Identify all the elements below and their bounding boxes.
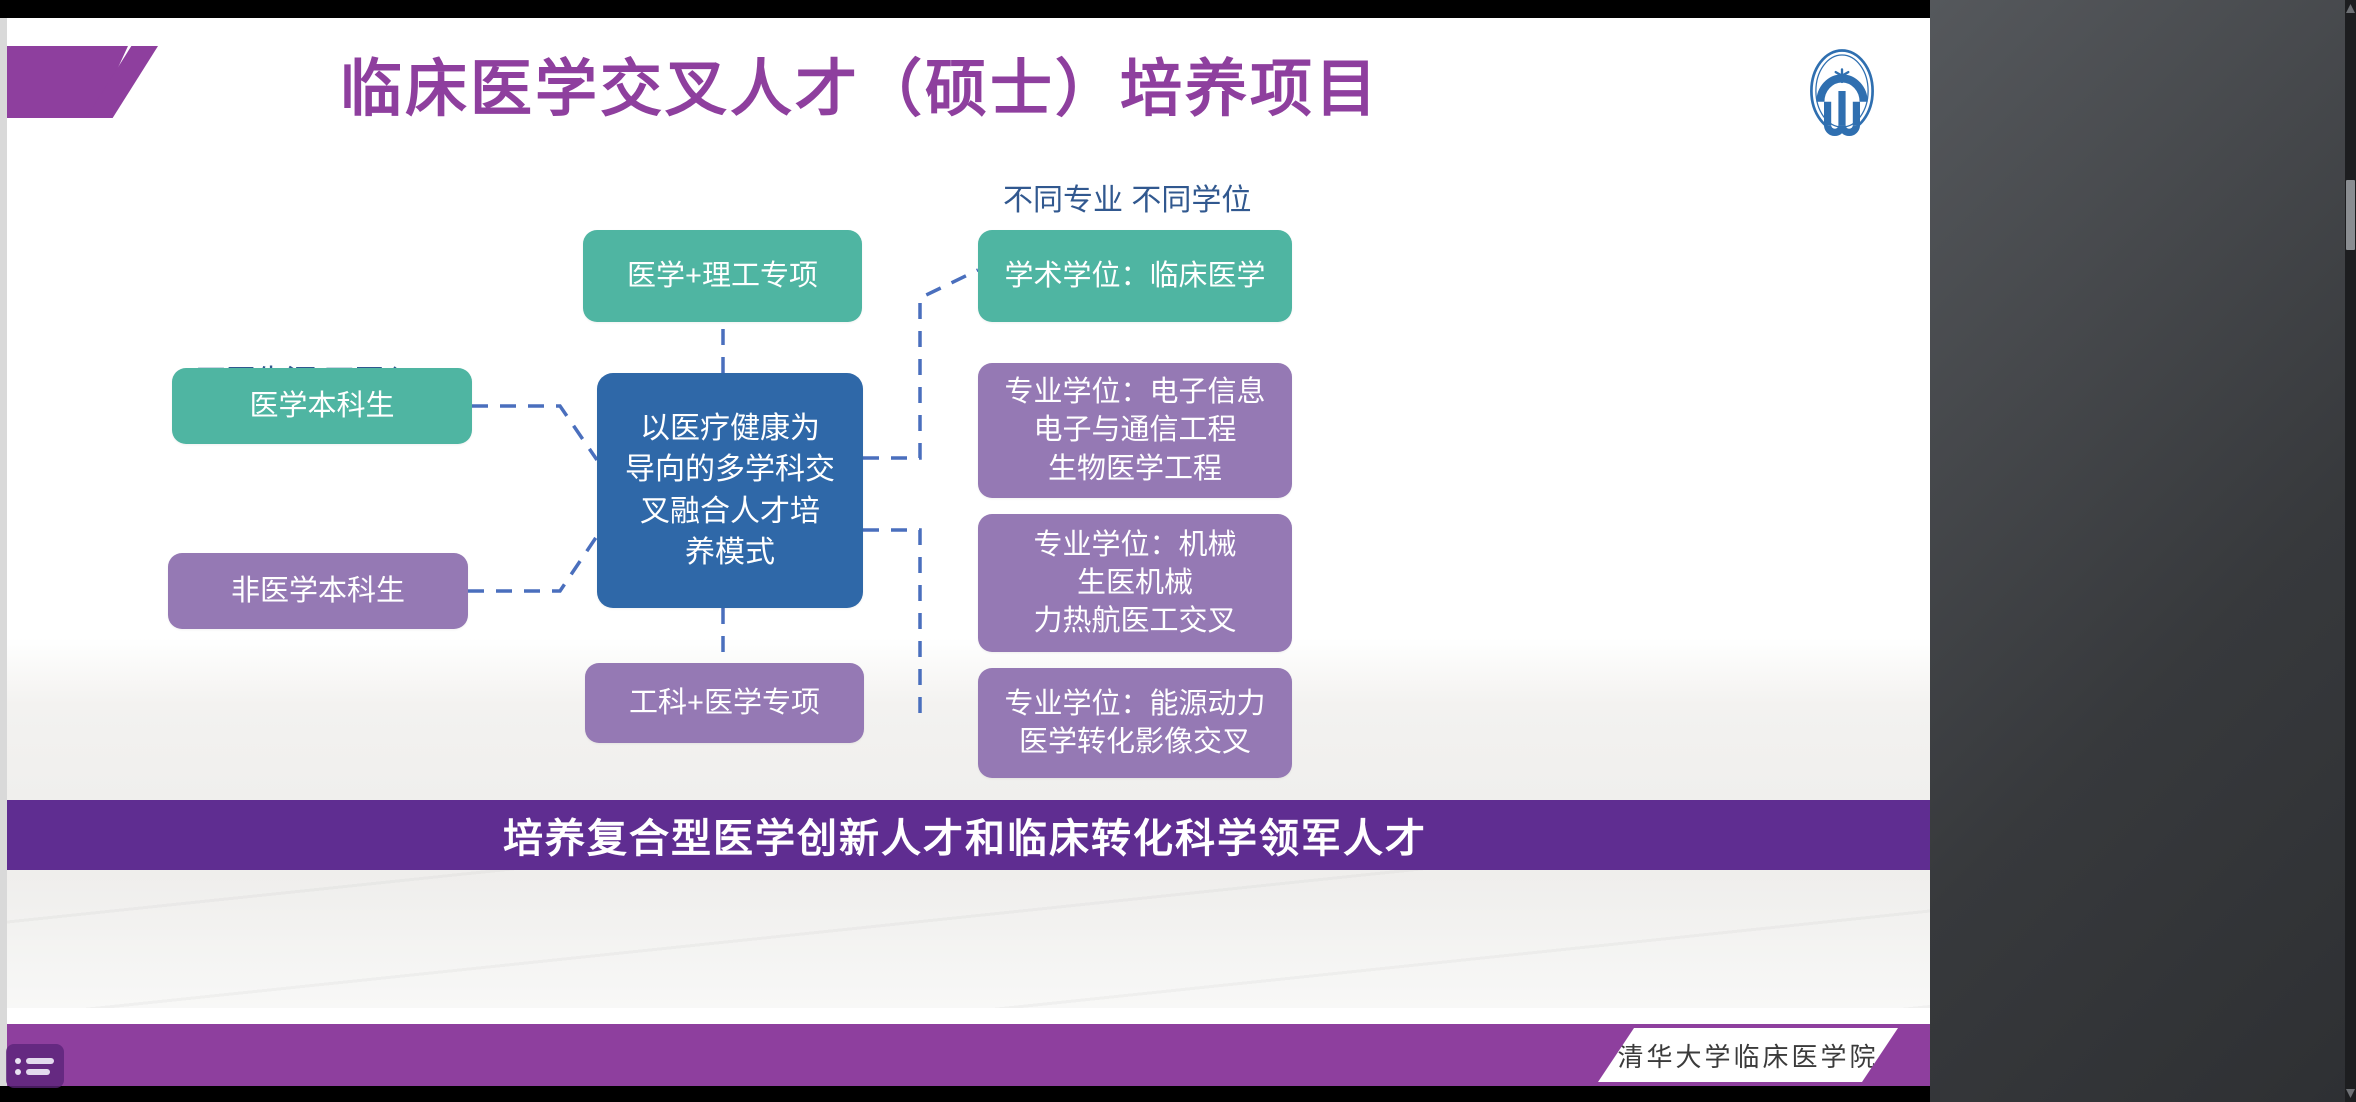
node-nonmedical-undergraduate[interactable]: 非医学本科生 (168, 553, 468, 629)
slide-left-edge-strip (0, 18, 7, 1086)
letterbox-bottom (0, 1086, 1930, 1102)
node-professional-degree-mechanical[interactable]: 专业学位：机械 生医机械 力热航医工交叉 (978, 514, 1292, 652)
node-medicine-plus-science-track[interactable]: 医学+理工专项 (583, 230, 862, 322)
slide-title: 临床医学交叉人才（硕士）培养项目 (300, 38, 1420, 128)
caption-different-degrees: 不同专业 不同学位 (1003, 175, 1251, 219)
node-engineering-plus-medicine-track[interactable]: 工科+医学专项 (585, 663, 864, 743)
outline-bar (26, 1069, 50, 1075)
panel-scrollbar[interactable] (2345, 0, 2356, 1102)
scroll-up-arrow-icon[interactable] (2346, 4, 2355, 13)
node-professional-degree-energy[interactable]: 专业学位：能源动力 医学转化影像交叉 (978, 668, 1292, 778)
slide-footer-tab: 清华大学临床医学院 (1598, 1028, 1898, 1082)
shared-screen-area[interactable]: 临床医学交叉人才（硕士）培养项目 不同生源 不同入口 (0, 0, 1930, 1102)
node-center-training-model[interactable]: 以医疗健康为 导向的多学科交 叉融合人才培 养模式 (597, 373, 863, 608)
slide-footer-text: 清华大学临床医学院 (1617, 1037, 1878, 1074)
outline-row-1 (15, 1058, 64, 1064)
node-professional-degree-electronic-information[interactable]: 专业学位：电子信息 电子与通信工程 生物医学工程 (978, 363, 1292, 498)
slide-background-texture-lines (0, 858, 1930, 1008)
node-medical-undergraduate[interactable]: 医学本科生 (172, 368, 472, 444)
outline-row-2 (15, 1069, 64, 1075)
slide-banner-text: 培养复合型医学创新人才和临床转化科学领军人才 (503, 806, 1427, 864)
node-academic-degree[interactable]: 学术学位：临床医学 (978, 230, 1292, 322)
outline-bullet-icon (15, 1058, 21, 1064)
slide-outline-toggle[interactable] (6, 1044, 64, 1088)
outline-bullet-icon (15, 1069, 21, 1075)
slide-banner: 培养复合型医学创新人才和临床转化科学领军人才 (0, 800, 1930, 870)
university-seal-logo (1797, 46, 1887, 136)
outline-bar (26, 1058, 54, 1064)
presentation-slide[interactable]: 临床医学交叉人才（硕士）培养项目 不同生源 不同入口 (0, 18, 1930, 1086)
screen-root: 临床医学交叉人才（硕士）培养项目 不同生源 不同入口 (0, 0, 2356, 1102)
slide-footer-bar: 清华大学临床医学院 (0, 1024, 1930, 1086)
scroll-down-arrow-icon[interactable] (2346, 1089, 2355, 1098)
scrollbar-thumb[interactable] (2346, 180, 2355, 250)
letterbox-top (0, 0, 1930, 18)
participants-video-panel[interactable]: 董家鸿 自成胃醇 (1930, 0, 2356, 1102)
